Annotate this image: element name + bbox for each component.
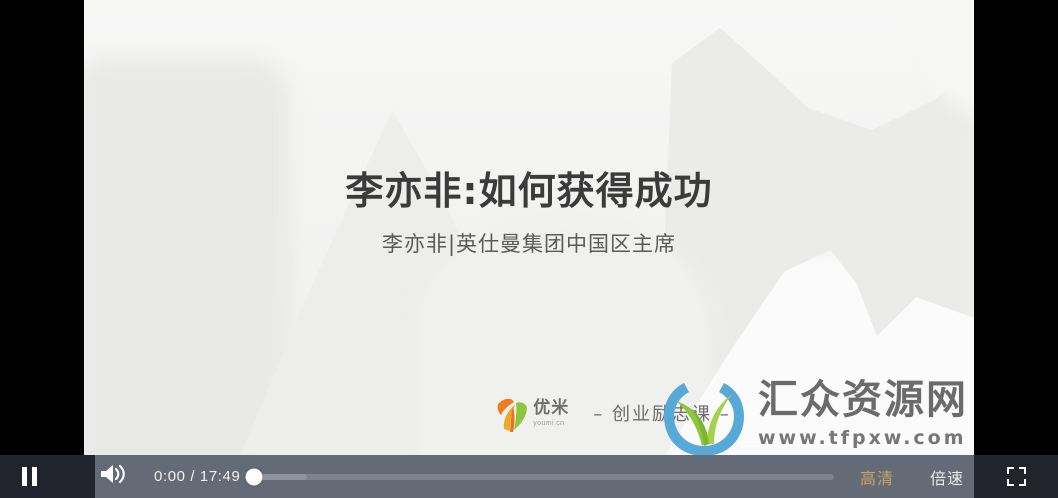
volume-button[interactable] [86, 455, 138, 498]
playback-speed-button[interactable]: 倍速 [920, 455, 974, 498]
video-player[interactable]: 李亦非:如何获得成功 李亦非|英仕曼集团中国区主席 优米 [0, 0, 1058, 498]
watermark-text: 汇众资源网 www.tfpxw.com [758, 380, 968, 448]
youmi-brand-url: youmi.cn [533, 420, 569, 427]
watermark-site-url: www.tfpxw.com [758, 429, 968, 448]
watermark-site-name: 汇众资源网 [758, 380, 968, 420]
youmi-brand-words: 优米 youmi.cn [533, 400, 569, 427]
time-display: 0:00 / 17:49 [154, 468, 240, 485]
pause-icon [22, 467, 27, 486]
pause-button[interactable] [0, 455, 58, 498]
site-watermark: 汇众资源网 www.tfpxw.com [658, 366, 968, 462]
circle-leaves-logo-icon [658, 368, 750, 460]
youmi-leaf-logo-icon [495, 393, 529, 433]
volume-on-icon [99, 463, 125, 490]
player-control-bar[interactable]: 0:00 / 17:49 高清 倍速 [0, 455, 1058, 498]
quality-button[interactable]: 高清 [850, 455, 904, 498]
youmi-brand: 优米 youmi.cn [495, 393, 569, 433]
progress-bar[interactable] [254, 455, 834, 498]
progress-track[interactable] [254, 474, 834, 480]
fullscreen-button[interactable] [974, 455, 1058, 498]
video-title: 李亦非:如何获得成功 [84, 168, 974, 216]
fullscreen-icon [1007, 467, 1026, 486]
video-subtitle: 李亦非|英仕曼集团中国区主席 [84, 228, 974, 258]
progress-handle[interactable] [246, 468, 263, 485]
youmi-brand-name: 优米 [533, 400, 569, 417]
pause-icon-bar-2 [32, 467, 37, 486]
title-block: 李亦非:如何获得成功 李亦非|英仕曼集团中国区主席 [84, 168, 974, 258]
